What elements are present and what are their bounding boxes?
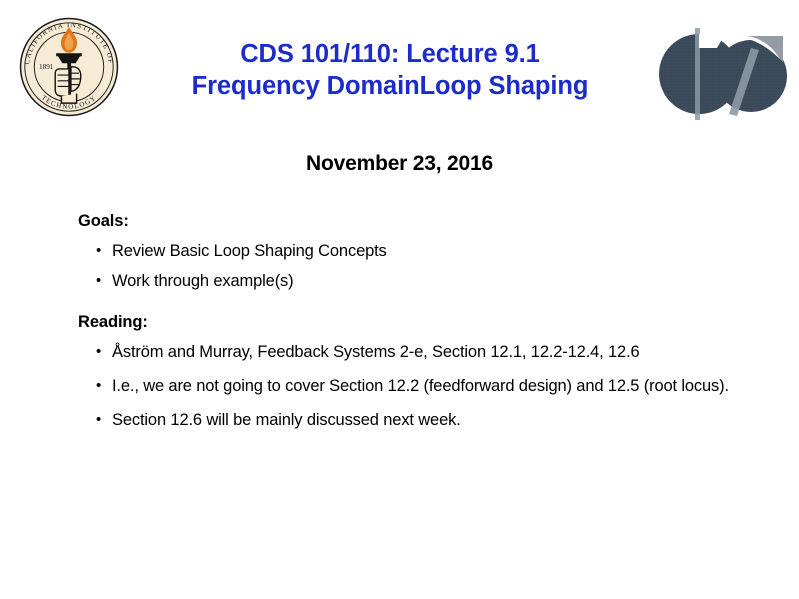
list-item: Review Basic Loop Shaping Concepts (78, 240, 738, 263)
section-goals: Goals: Review Basic Loop Shaping Concept… (78, 212, 738, 293)
list-item: I.e., we are not going to cover Section … (78, 375, 738, 398)
title-line-1: CDS 101/110: Lecture 9.1 (130, 38, 650, 70)
slide-body: Goals: Review Basic Loop Shaping Concept… (78, 212, 738, 443)
title-line-2: Frequency DomainLoop Shaping (130, 70, 650, 102)
list-item: Section 12.6 will be mainly discussed ne… (78, 409, 738, 432)
list-item: Åström and Murray, Feedback Systems 2-e,… (78, 341, 738, 364)
cds-logo-icon (655, 18, 787, 126)
page-title: CDS 101/110: Lecture 9.1 Frequency Domai… (130, 38, 650, 102)
reading-bullet-list: Åström and Murray, Feedback Systems 2-e,… (78, 341, 738, 432)
lecture-date: November 23, 2016 (0, 152, 799, 176)
caltech-seal-icon: CALIFORNIA INSTITUTE OF TECHNOLOGY 1891 (12, 10, 126, 124)
goals-heading: Goals: (78, 212, 738, 231)
lecture-slide: CALIFORNIA INSTITUTE OF TECHNOLOGY 1891 (0, 0, 799, 599)
goals-bullet-list: Review Basic Loop Shaping Concepts Work … (78, 240, 738, 293)
svg-text:1891: 1891 (39, 63, 54, 71)
section-reading: Reading: Åström and Murray, Feedback Sys… (78, 313, 738, 432)
reading-heading: Reading: (78, 313, 738, 332)
list-item: Work through example(s) (78, 270, 738, 293)
